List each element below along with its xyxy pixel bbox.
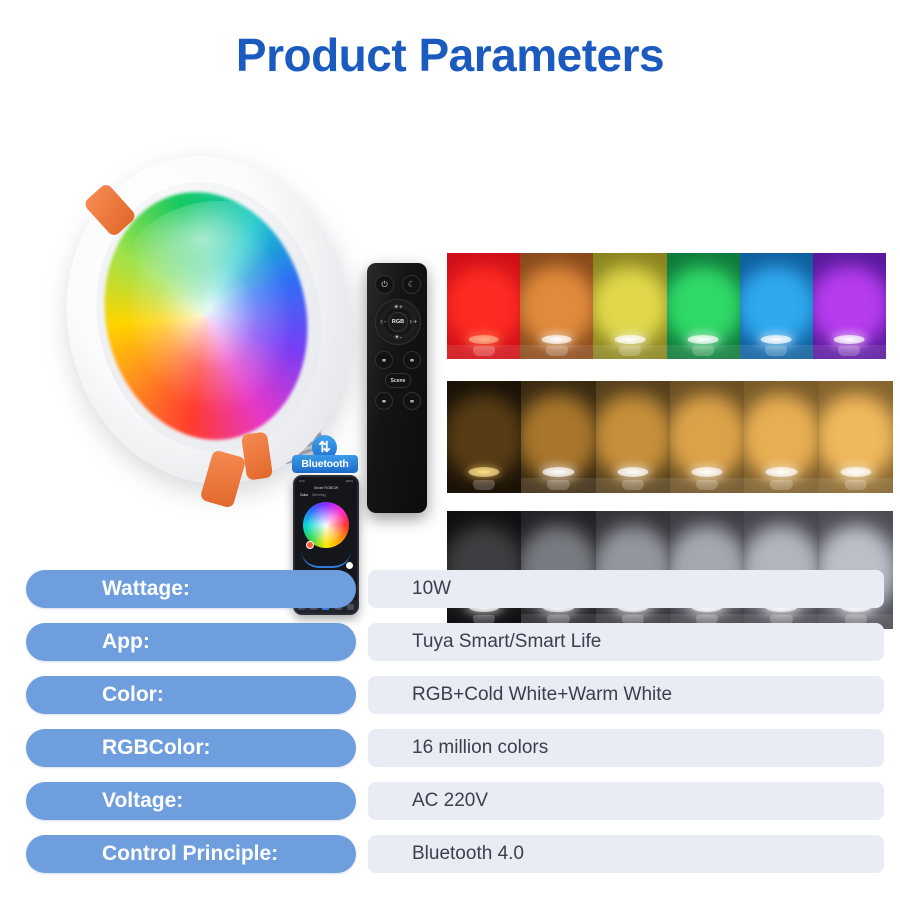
lamp-base	[765, 346, 787, 356]
lamp-base	[473, 480, 495, 490]
lamp-base	[696, 480, 718, 490]
scene-preset-icon: ⚭	[375, 351, 393, 369]
bluetooth-badge-label: Bluetooth	[292, 455, 358, 473]
table-row: Control Principle: Bluetooth 4.0	[0, 831, 900, 876]
lamp-base	[838, 346, 860, 356]
demo-cell	[744, 381, 818, 493]
phone-tab-dimming[interactable]: Dimming	[312, 493, 325, 497]
table-row: Color: RGB+Cold White+Warm White	[0, 672, 900, 717]
remote-control-image: ⏻ ☾ ☀+ ☀- ♁- ♁+ RGB ⚭ ⚭ Scene ⚭ ⚭	[367, 263, 427, 513]
scene-button: Scene	[385, 373, 411, 388]
lamp-base	[845, 480, 867, 490]
power-icon: ⏻	[375, 275, 394, 294]
param-value: 10W	[368, 570, 884, 608]
phone-status-bar: 9:41 100%	[295, 477, 357, 485]
demo-cell	[813, 253, 886, 359]
lamp-face	[834, 335, 865, 345]
demo-strip-warm-white	[447, 381, 893, 493]
param-label: RGBColor:	[26, 729, 356, 767]
demo-cell	[520, 253, 593, 359]
demo-cell	[670, 381, 744, 493]
hero-images: ⇅ Bluetooth 9:41 100% Smart RGBCW Color …	[0, 115, 900, 535]
scene-preset-icon: ⚭	[403, 351, 421, 369]
demo-cell	[521, 381, 595, 493]
table-row: Voltage: AC 220V	[0, 778, 900, 823]
bluetooth-badge: ⇅ Bluetooth	[292, 435, 358, 475]
lamp-base	[770, 480, 792, 490]
param-label: App:	[26, 623, 356, 661]
lamp-face	[468, 335, 499, 345]
rgb-button: RGB	[388, 312, 408, 332]
param-label: Color:	[26, 676, 356, 714]
lamp-base	[473, 346, 495, 356]
demo-cell	[740, 253, 813, 359]
phone-tab-color[interactable]: Color	[300, 493, 308, 497]
lamp-base	[546, 346, 568, 356]
demo-cell	[447, 381, 521, 493]
brightness-down-icon: ☀-	[394, 333, 402, 341]
brightness-up-icon: ☀+	[393, 303, 403, 311]
param-value: 16 million colors	[368, 729, 884, 767]
phone-tab-row: Color Dimming	[295, 490, 357, 497]
demo-strip-rgb-colors	[447, 253, 886, 359]
param-label: Control Principle:	[26, 835, 356, 873]
param-value: Tuya Smart/Smart Life	[368, 623, 884, 661]
lamp-face	[761, 335, 792, 345]
phone-status-battery: 100%	[345, 479, 353, 483]
table-row: App: Tuya Smart/Smart Life	[0, 619, 900, 664]
param-value: Bluetooth 4.0	[368, 835, 884, 873]
scene-preset-icon: ⚭	[375, 392, 393, 410]
color-wheel-selector[interactable]	[306, 541, 314, 549]
param-value: AC 220V	[368, 782, 884, 820]
param-label: Wattage:	[26, 570, 356, 608]
demo-cell	[667, 253, 740, 359]
demo-cell	[596, 381, 670, 493]
warm-down-icon: ♁-	[379, 319, 386, 326]
param-label: Voltage:	[26, 782, 356, 820]
table-row: RGBColor: 16 million colors	[0, 725, 900, 770]
warm-up-icon: ♁+	[408, 319, 417, 326]
lamp-face	[688, 335, 719, 345]
lamp-face	[615, 335, 646, 345]
night-mode-icon: ☾	[402, 275, 421, 294]
parameter-table: Wattage: 10W App: Tuya Smart/Smart Life …	[0, 566, 900, 884]
demo-cell	[819, 381, 893, 493]
table-row: Wattage: 10W	[0, 566, 900, 611]
param-value: RGB+Cold White+Warm White	[368, 676, 884, 714]
lamp-base	[692, 346, 714, 356]
lamp-base	[619, 346, 641, 356]
product-parameters-page: Product Parameters ⇅ Bluetooth 9:41 100%…	[0, 0, 900, 900]
phone-status-time: 9:41	[299, 479, 305, 483]
remote-control-ring: ☀+ ☀- ♁- ♁+ RGB	[375, 299, 421, 345]
scene-preset-icon: ⚭	[403, 392, 421, 410]
lamp-face	[541, 335, 572, 345]
lamp-base	[622, 480, 644, 490]
lamp-base	[547, 480, 569, 490]
page-title: Product Parameters	[0, 28, 900, 82]
demo-cell	[593, 253, 666, 359]
demo-cell	[447, 253, 520, 359]
